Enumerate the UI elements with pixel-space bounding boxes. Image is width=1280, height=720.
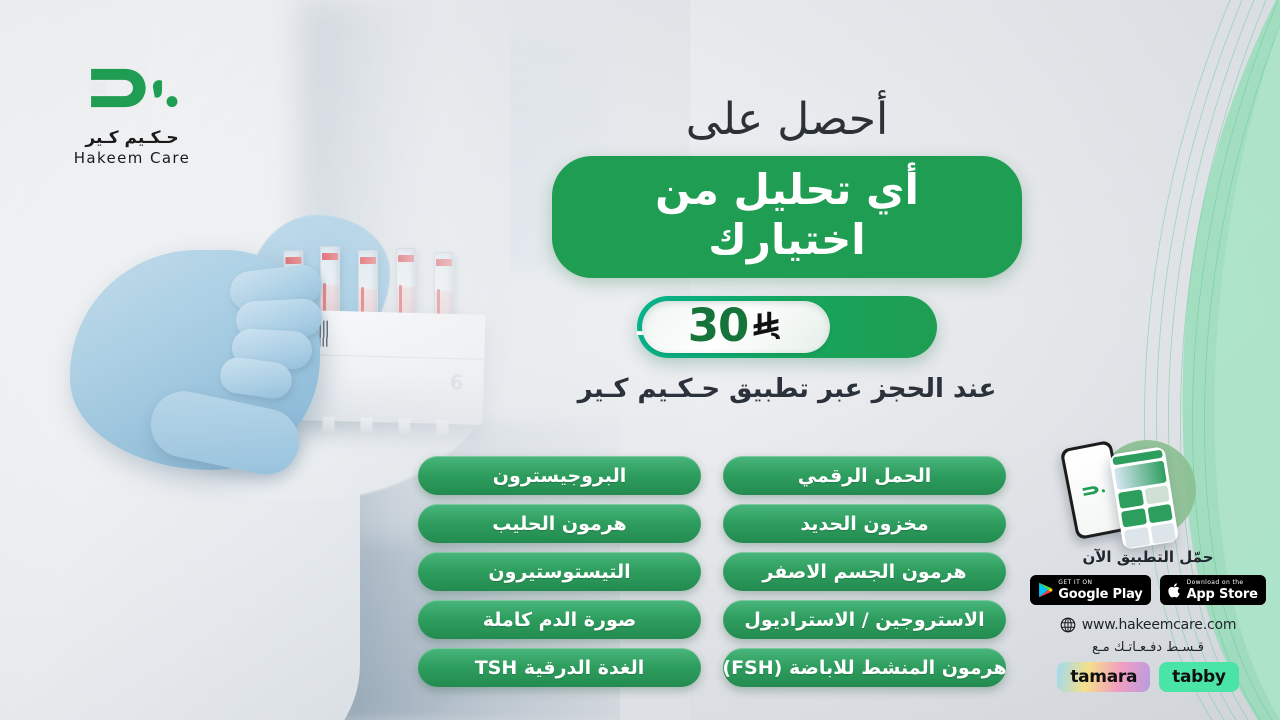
test-pill[interactable]: البروجيسترون [418, 456, 701, 495]
app-logo-icon [1080, 482, 1108, 499]
tabby-badge[interactable]: tabby [1159, 662, 1239, 692]
dr-monogram-icon [82, 58, 182, 118]
test-pill[interactable]: مخزون الحديد [723, 504, 1006, 543]
store-badges: GET IT ON Google Play Download on the Ap… [1024, 575, 1272, 605]
logo-name-english: Hakeem Care [57, 149, 207, 167]
payment-methods: tamara tabby [1024, 662, 1272, 692]
headline-pretext: أحصل على [552, 96, 1022, 144]
headline-block: أحصل على أي تحليل من اختيارك فقط بـ [552, 96, 1022, 404]
app-store-badge[interactable]: Download on the App Store [1160, 575, 1266, 605]
price-value-chip: 30 [642, 301, 830, 353]
app-store-label: App Store [1187, 588, 1258, 601]
download-app-cta: حمّل التطبيق الآن [1024, 548, 1272, 566]
price-number: 30 [688, 303, 749, 348]
website-row[interactable]: www.hakeemcare.com [1024, 617, 1272, 633]
payment-label: قـسـط دفـعـاتـك مـع [1024, 640, 1272, 655]
test-pill[interactable]: هرمون المنشط للاباضة (FSH) [723, 648, 1006, 687]
website-url: www.hakeemcare.com [1082, 617, 1237, 633]
headline-subtitle: عند الحجز عبر تطبيق حـكـيم كـير [552, 374, 1022, 404]
test-pill[interactable]: هرمون الجسم الاصفر [723, 552, 1006, 591]
phone-mockups [1024, 436, 1272, 542]
globe-icon [1060, 617, 1076, 633]
apple-icon [1168, 582, 1182, 599]
test-pill[interactable]: الغدة الدرقية TSH [418, 648, 701, 687]
test-pill[interactable]: صورة الدم كاملة [418, 600, 701, 639]
app-promo-section: حمّل التطبيق الآن GET IT ON Google Play [1024, 436, 1272, 692]
google-play-label: Google Play [1058, 588, 1142, 601]
google-play-small-label: GET IT ON [1058, 580, 1142, 586]
google-play-icon [1038, 582, 1053, 598]
test-pill[interactable]: الاستروجين / الاستراديول [723, 600, 1006, 639]
test-list-grid: الحمل الرقمي البروجيسترون مخزون الحديد ه… [352, 456, 1006, 687]
advertisement-canvas: 6 [0, 0, 1280, 720]
google-play-badge[interactable]: GET IT ON Google Play [1030, 575, 1150, 605]
brand-logo: حـكـيم كـير Hakeem Care [57, 58, 207, 167]
test-pill[interactable]: هرمون الحليب [418, 504, 701, 543]
app-store-small-label: Download on the [1187, 580, 1258, 586]
price-block: فقط بـ 30 [552, 296, 1022, 358]
saudi-riyal-icon [752, 310, 784, 344]
price-pill: فقط بـ 30 [637, 296, 937, 358]
test-pill[interactable]: التيستوستيرون [418, 552, 701, 591]
tamara-badge[interactable]: tamara [1057, 662, 1150, 692]
headline-main-pill: أي تحليل من اختيارك [552, 156, 1022, 278]
test-pill[interactable]: الحمل الرقمي [723, 456, 1006, 495]
logo-name-arabic: حـكـيم كـير [57, 128, 207, 148]
